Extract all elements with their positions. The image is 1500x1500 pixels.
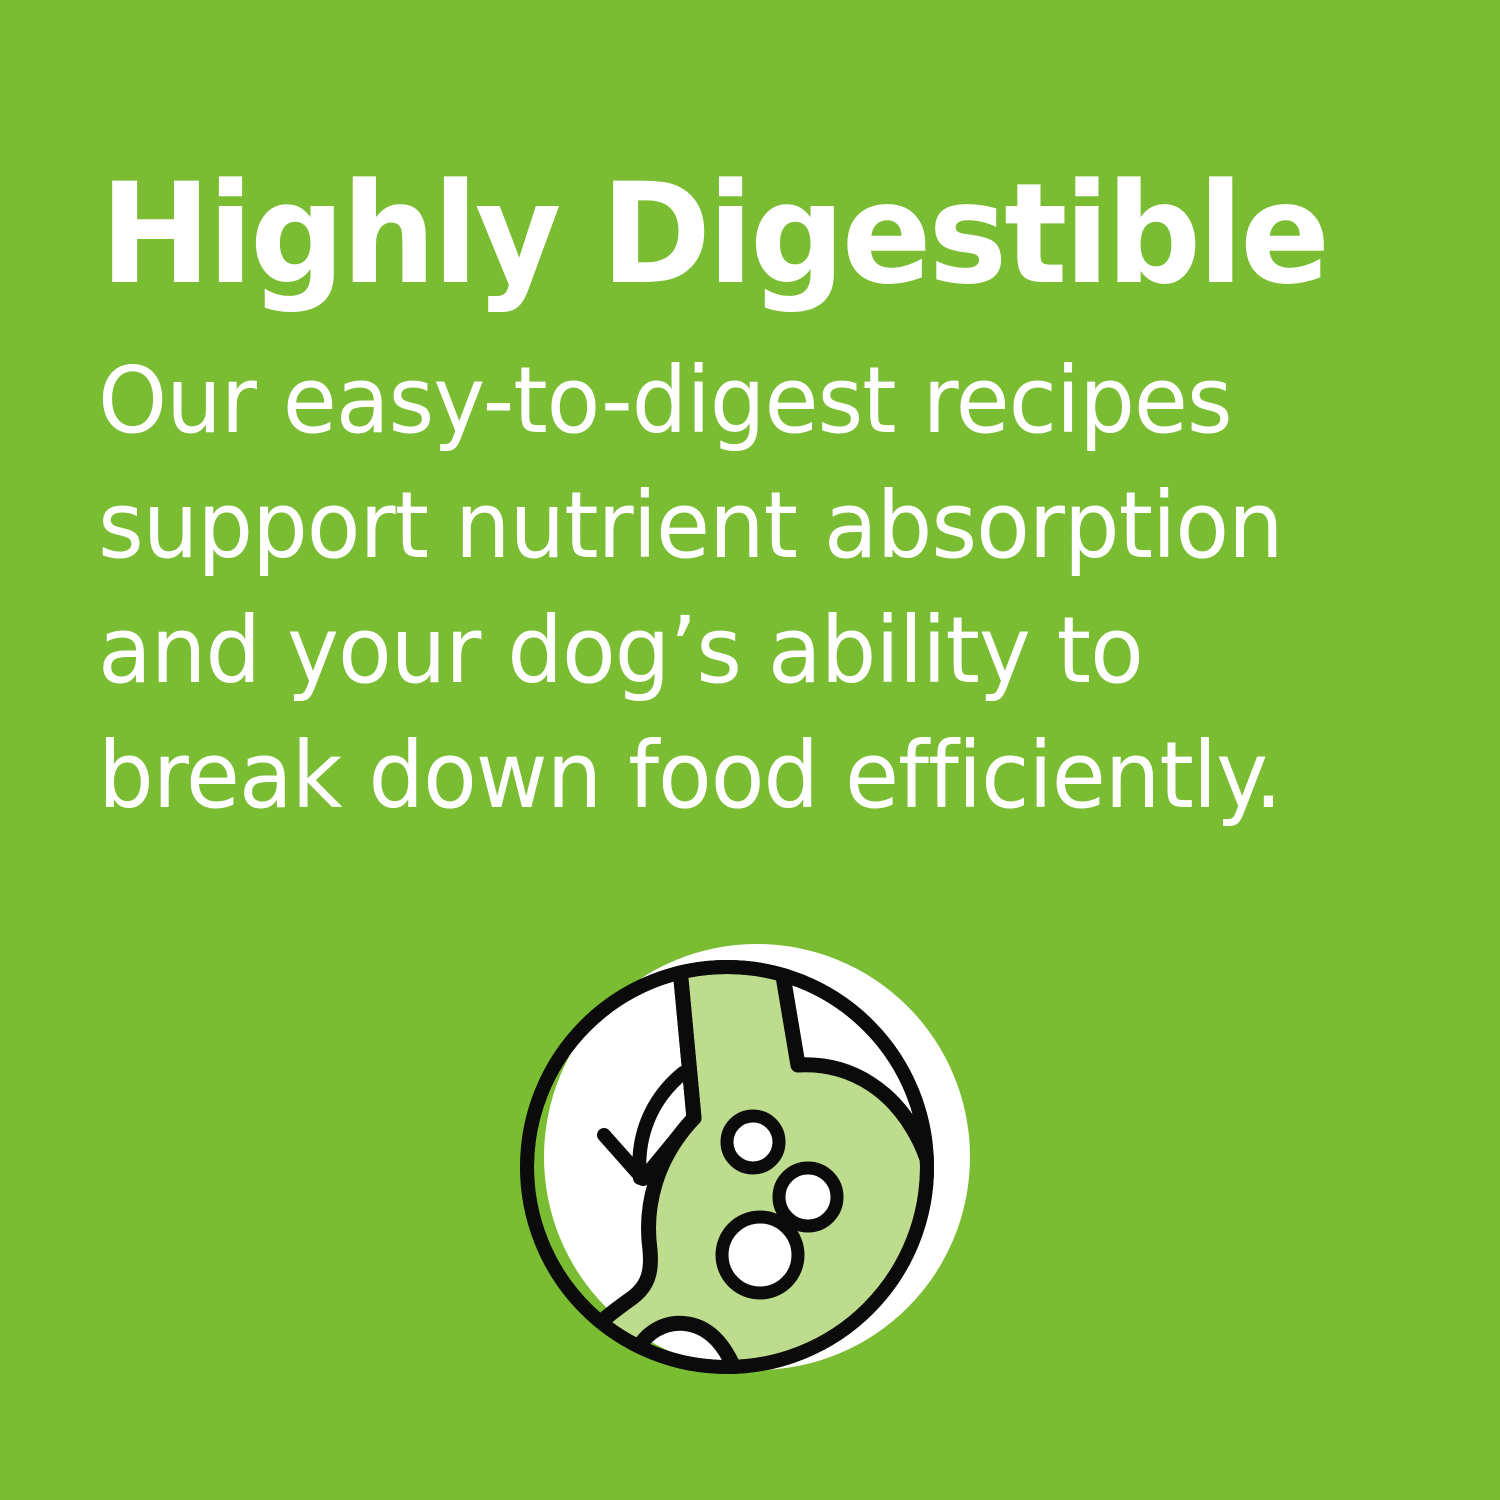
bubble-small bbox=[727, 1116, 779, 1168]
bubble-large bbox=[722, 1217, 798, 1293]
body-line-2: support nutrient absorption bbox=[98, 463, 1368, 588]
body-line-3: and your dog’s ability to bbox=[98, 588, 1368, 713]
highly-digestible-card: Highly Digestible Our easy-to-digest rec… bbox=[0, 0, 1500, 1500]
body-line-1: Our easy-to-digest recipes bbox=[98, 338, 1368, 463]
body-line-4: break down food efficiently. bbox=[98, 713, 1368, 838]
body-copy: Our easy-to-digest recipes support nutri… bbox=[98, 338, 1368, 838]
stomach-digestion-icon bbox=[480, 920, 1020, 1460]
bubble-medium bbox=[779, 1168, 837, 1226]
page-title: Highly Digestible bbox=[100, 165, 1361, 304]
